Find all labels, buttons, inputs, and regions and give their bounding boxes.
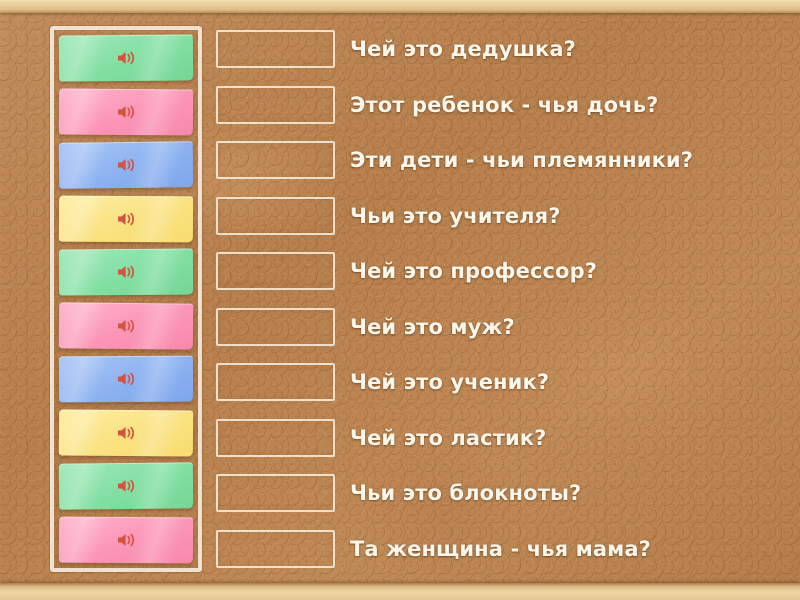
audio-card[interactable] (59, 88, 193, 135)
answer-drop-zone[interactable] (216, 530, 335, 568)
audio-card[interactable] (59, 356, 193, 403)
question-text: Та женщина - чья мама? (350, 537, 651, 561)
question-text: Чьи это блокноты? (350, 481, 581, 505)
question-text: Чей это ластик? (350, 426, 546, 450)
audio-card-panel (50, 26, 202, 572)
question-row: Эти дети - чьи племянники? (216, 137, 776, 183)
speaker-icon[interactable] (115, 156, 137, 174)
audio-card[interactable] (59, 517, 193, 564)
speaker-icon[interactable] (115, 477, 137, 495)
question-row: Этот ребенок - чья дочь? (216, 82, 776, 128)
audio-card[interactable] (59, 409, 193, 456)
cork-board: Чей это дедушка? Этот ребенок - чья дочь… (0, 0, 800, 600)
board-frame-bottom (0, 583, 800, 600)
speaker-icon[interactable] (115, 370, 137, 388)
answer-drop-zone[interactable] (216, 363, 335, 401)
answer-drop-zone[interactable] (216, 419, 335, 457)
speaker-icon[interactable] (115, 102, 137, 120)
question-text: Чей это профессор? (350, 259, 597, 283)
answer-drop-zone[interactable] (216, 197, 335, 235)
speaker-icon[interactable] (115, 49, 137, 67)
speaker-icon[interactable] (115, 263, 137, 281)
answer-drop-zone[interactable] (216, 86, 335, 124)
audio-card[interactable] (59, 249, 193, 296)
question-row: Та женщина - чья мама? (216, 526, 776, 572)
question-text: Эти дети - чьи племянники? (350, 148, 693, 172)
speaker-icon[interactable] (115, 210, 137, 228)
answer-drop-zone[interactable] (216, 141, 335, 179)
audio-card[interactable] (59, 302, 193, 349)
audio-card[interactable] (59, 34, 193, 81)
question-text: Чей это муж? (350, 315, 515, 339)
audio-card[interactable] (59, 195, 193, 242)
question-text: Чей это ученик? (350, 370, 549, 394)
question-row: Чьи это учителя? (216, 193, 776, 239)
audio-card-stack (54, 30, 198, 568)
board-frame-top (0, 0, 800, 13)
question-row: Чей это ластик? (216, 415, 776, 461)
speaker-icon[interactable] (115, 317, 137, 335)
question-row: Чей это дедушка? (216, 26, 776, 72)
answer-drop-zone[interactable] (216, 308, 335, 346)
question-row: Чей это муж? (216, 304, 776, 350)
audio-card[interactable] (59, 463, 193, 510)
audio-card[interactable] (59, 141, 194, 189)
answer-drop-zone[interactable] (216, 474, 335, 512)
question-row: Чей это профессор? (216, 248, 776, 294)
question-row: Чьи это блокноты? (216, 470, 776, 516)
question-list: Чей это дедушка? Этот ребенок - чья дочь… (216, 26, 776, 572)
question-text: Чей это дедушка? (350, 37, 576, 61)
answer-drop-zone[interactable] (216, 30, 335, 68)
question-row: Чей это ученик? (216, 359, 776, 405)
question-text: Чьи это учителя? (350, 204, 561, 228)
speaker-icon[interactable] (115, 424, 137, 442)
answer-drop-zone[interactable] (216, 252, 335, 290)
question-text: Этот ребенок - чья дочь? (350, 93, 658, 117)
speaker-icon[interactable] (115, 531, 137, 549)
